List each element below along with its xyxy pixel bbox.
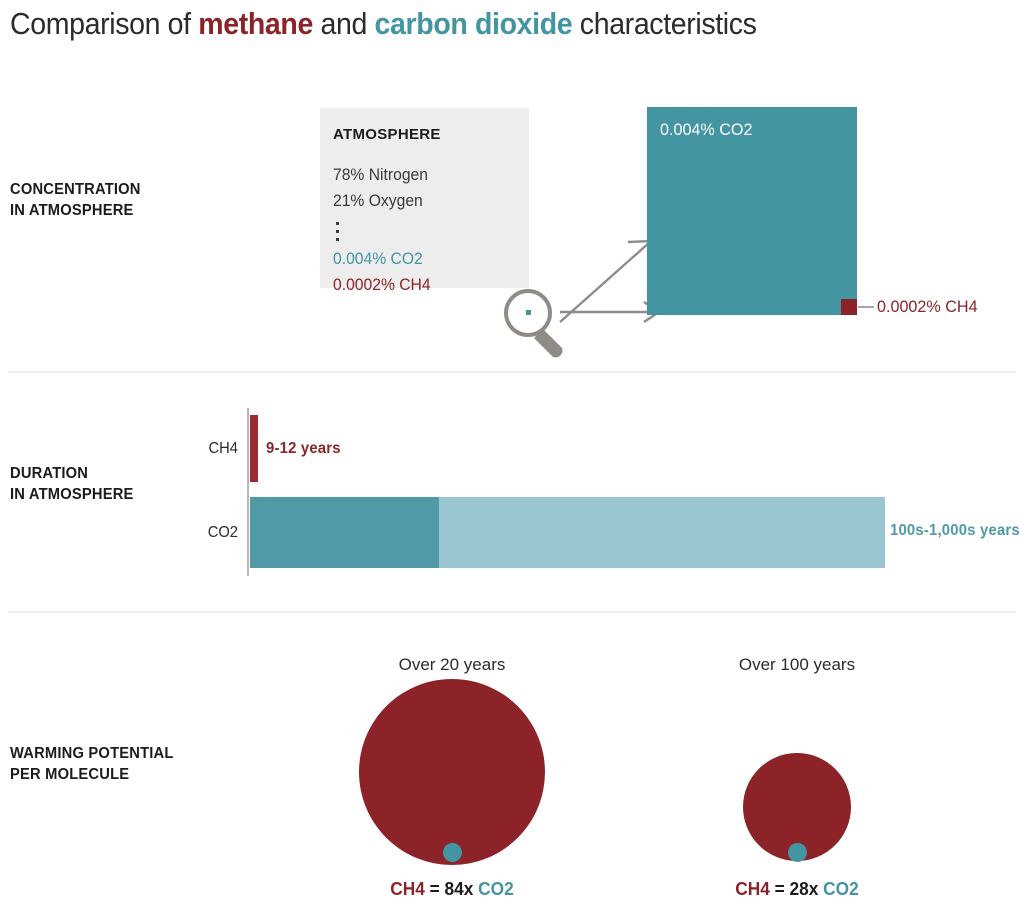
section-label-duration: DURATION IN ATMOSPHERE — [10, 463, 134, 505]
ch4-concentration-label: 0.0002% CH4 — [877, 297, 978, 317]
warming-bubble-co2-100-years — [788, 843, 807, 862]
warming-caption-100-years: CH4 = 28x CO2 — [701, 879, 893, 900]
section-label-warming: WARMING POTENTIAL PER MOLECULE — [10, 743, 174, 785]
section-label-concentration: CONCENTRATION IN ATMOSPHERE — [10, 179, 141, 221]
ch4-concentration-square — [841, 299, 857, 315]
caption-ch4: CH4 — [390, 879, 425, 899]
atmosphere-item-ch4: 0.0002% CH4 — [333, 276, 431, 295]
warming-group-100-years: Over 100 years CH4 = 28x CO2 — [697, 645, 897, 910]
title-carbon-dioxide: carbon dioxide — [375, 6, 573, 41]
atmosphere-item-oxygen: 21% Oxygen — [333, 192, 423, 211]
section-divider — [8, 611, 1016, 613]
title-prefix: Comparison of — [10, 6, 198, 41]
duration-category-co2: CO2 — [189, 524, 238, 542]
page-title: Comparison of methane and carbon dioxide… — [10, 6, 757, 42]
caption-multiplier: = 28x — [770, 879, 823, 899]
warming-group-20-years: Over 20 years CH4 = 84x CO2 — [332, 645, 572, 910]
duration-category-ch4: CH4 — [189, 440, 238, 458]
caption-co2: CO2 — [478, 879, 514, 899]
title-methane: methane — [198, 6, 313, 41]
title-middle: and — [313, 6, 375, 41]
co2-concentration-label: 0.004% CO2 — [660, 120, 752, 140]
duration-bar-co2-upper — [439, 497, 885, 568]
warming-bubble-co2-20-years — [443, 843, 462, 862]
warming-bubble-ch4-20-years — [359, 679, 545, 865]
duration-axis-line — [247, 408, 249, 576]
warming-caption-20-years: CH4 = 84x CO2 — [337, 879, 567, 900]
atmosphere-item-nitrogen: 78% Nitrogen — [333, 166, 428, 185]
caption-multiplier: = 84x — [425, 879, 478, 899]
duration-label-ch4: 9-12 years — [266, 440, 341, 458]
duration-label-co2: 100s-1,000s years — [890, 522, 1020, 540]
infographic-canvas: Comparison of methane and carbon dioxide… — [0, 0, 1024, 916]
warming-heading-100-years: Over 100 years — [697, 655, 897, 675]
atmosphere-item-co2: 0.004% CO2 — [333, 250, 423, 269]
warming-heading-20-years: Over 20 years — [332, 655, 572, 675]
caption-co2: CO2 — [823, 879, 859, 899]
vertical-ellipsis-icon — [336, 222, 339, 246]
leader-line — [858, 306, 874, 308]
caption-ch4: CH4 — [735, 879, 770, 899]
title-suffix: characteristics — [572, 6, 756, 41]
duration-bar-co2-lower — [250, 497, 439, 568]
duration-bar-ch4 — [250, 415, 258, 482]
atmosphere-heading: ATMOSPHERE — [333, 126, 441, 143]
arrow-diagonal-up-right — [560, 242, 650, 322]
section-divider — [8, 371, 1016, 373]
